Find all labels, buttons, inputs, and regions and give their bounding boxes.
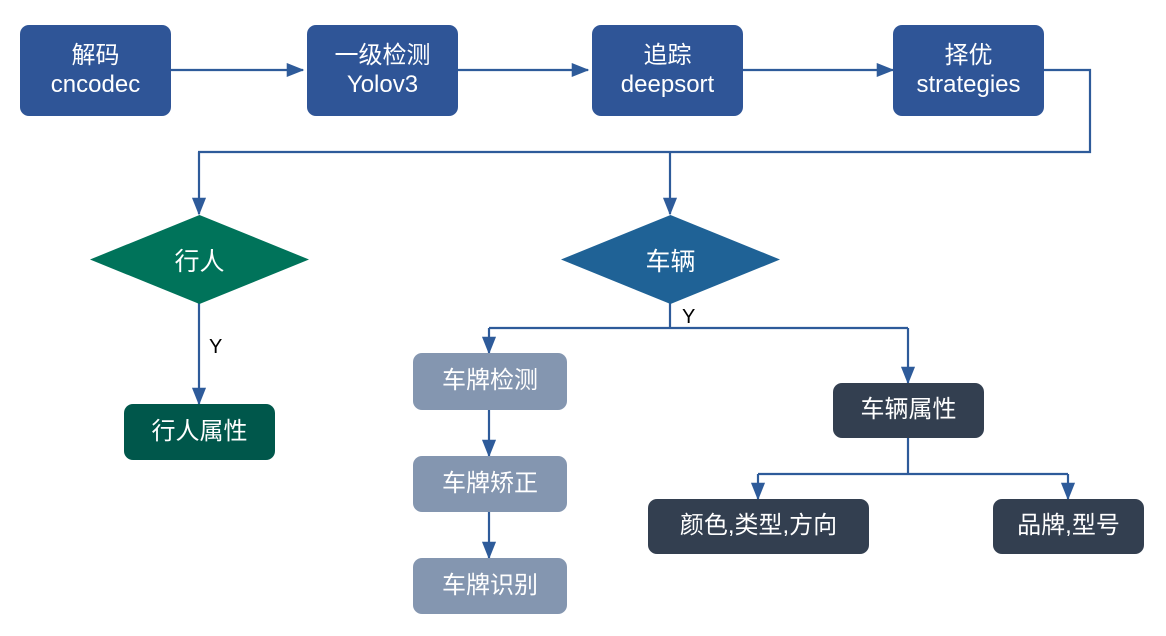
node-select[interactable]: 择优 strategies: [893, 25, 1044, 116]
node-detect-line1: 一级检测: [335, 42, 431, 70]
node-brand-model[interactable]: 品牌,型号: [993, 499, 1144, 554]
edge-vehicle-attr-split-bus: [758, 438, 1068, 474]
node-plate-recognize[interactable]: 车牌识别: [413, 558, 567, 614]
node-plate-correct-label: 车牌矫正: [442, 470, 538, 498]
decision-vehicle[interactable]: 车辆: [561, 215, 780, 304]
vehicle-diamond-shape: [561, 215, 780, 304]
node-select-line1: 择优: [945, 42, 993, 70]
node-decode-line1: 解码: [72, 42, 120, 70]
edge-label-vehicle-yes: Y: [682, 306, 695, 329]
node-decode[interactable]: 解码 cncodec: [20, 25, 171, 116]
node-pedestrian-attributes-label: 行人属性: [152, 418, 248, 446]
node-plate-detect[interactable]: 车牌检测: [413, 353, 567, 410]
node-plate-recognize-label: 车牌识别: [442, 572, 538, 600]
node-track[interactable]: 追踪 deepsort: [592, 25, 743, 116]
pedestrian-diamond-shape: [90, 215, 309, 304]
edge-vehicle-split-bus: [489, 303, 908, 328]
node-brand-model-label: 品牌,型号: [1017, 512, 1120, 540]
node-color-type-direction-label: 颜色,类型,方向: [680, 512, 837, 540]
node-plate-correct[interactable]: 车牌矫正: [413, 456, 567, 512]
node-vehicle-attributes[interactable]: 车辆属性: [833, 383, 984, 438]
node-color-type-direction[interactable]: 颜色,类型,方向: [648, 499, 869, 554]
node-detect-line2: Yolov3: [347, 71, 418, 99]
decision-pedestrian[interactable]: 行人: [90, 215, 309, 304]
node-plate-detect-label: 车牌检测: [442, 367, 538, 395]
node-decode-line2: cncodec: [51, 71, 140, 99]
node-track-line1: 追踪: [644, 42, 692, 70]
node-vehicle-attributes-label: 车辆属性: [861, 396, 957, 424]
flowchart-canvas: 解码 cncodec 一级检测 Yolov3 追踪 deepsort 择优 st…: [0, 0, 1166, 636]
node-select-line2: strategies: [916, 71, 1020, 99]
node-pedestrian-attributes[interactable]: 行人属性: [124, 404, 275, 460]
node-track-line2: deepsort: [621, 71, 714, 99]
edge-label-pedestrian-yes: Y: [209, 336, 222, 359]
node-detect[interactable]: 一级检测 Yolov3: [307, 25, 458, 116]
